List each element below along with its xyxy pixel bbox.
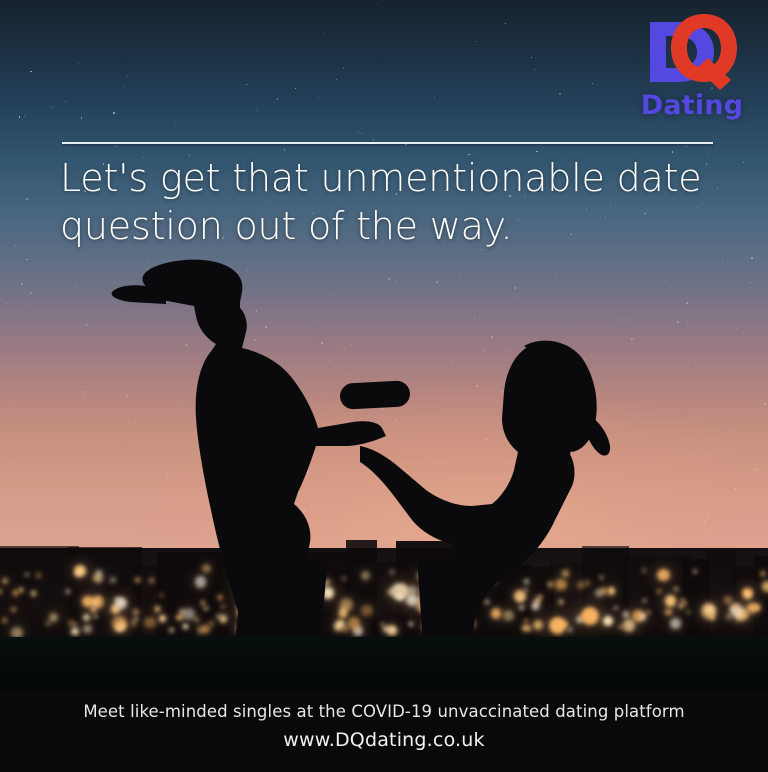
- star: [764, 403, 766, 405]
- dq-monogram-icon: [636, 12, 748, 90]
- advertisement-card: Dating Let's get that unmentionable date…: [0, 0, 768, 772]
- star: [756, 468, 758, 470]
- city-light: [747, 603, 757, 613]
- city-light: [46, 622, 50, 626]
- star: [692, 454, 693, 455]
- star: [90, 484, 91, 485]
- city-light: [76, 572, 79, 575]
- star: [373, 139, 374, 140]
- star: [672, 151, 673, 152]
- star: [21, 283, 23, 285]
- city-light: [693, 570, 697, 574]
- city-light: [745, 593, 751, 599]
- city-light: [96, 570, 102, 576]
- star: [743, 162, 744, 163]
- city-light: [724, 596, 732, 604]
- city-light: [670, 618, 681, 629]
- star: [86, 324, 87, 325]
- star: [531, 57, 532, 58]
- star: [674, 506, 675, 507]
- city-light: [683, 602, 687, 606]
- footer-website[interactable]: www.DQdating.co.uk: [0, 725, 768, 755]
- city-light: [66, 589, 71, 594]
- star: [113, 112, 114, 113]
- star: [81, 117, 82, 118]
- headline-divider: [62, 142, 713, 144]
- star: [734, 488, 735, 489]
- star: [26, 259, 27, 260]
- star: [284, 149, 285, 150]
- city-light: [761, 571, 766, 576]
- city-light: [83, 614, 90, 621]
- hero-photo: Dating Let's get that unmentionable date…: [0, 0, 768, 690]
- brand-wordmark: Dating: [636, 92, 748, 119]
- star: [19, 116, 20, 117]
- star: [686, 302, 688, 304]
- city-light: [25, 573, 28, 576]
- star: [736, 328, 737, 329]
- star: [704, 520, 706, 522]
- joined-hands: [339, 380, 410, 410]
- city-light: [665, 609, 671, 615]
- footer-tagline: Meet like-minded singles at the COVID-19…: [0, 699, 768, 725]
- city-light: [68, 620, 74, 626]
- rooftop-ledge: [0, 637, 768, 690]
- star: [701, 511, 702, 512]
- headline-text: Let's get that unmentionable date questi…: [60, 154, 730, 250]
- star: [336, 79, 337, 80]
- city-light: [762, 581, 768, 592]
- brand-logo[interactable]: Dating: [636, 12, 748, 127]
- city-light: [731, 603, 739, 611]
- city-light: [92, 599, 98, 605]
- star: [52, 107, 53, 108]
- city-light: [49, 613, 58, 622]
- city-light: [2, 618, 7, 623]
- star: [555, 274, 556, 275]
- city-light: [2, 578, 8, 584]
- star: [82, 391, 84, 393]
- city-light: [709, 614, 715, 620]
- city-building: [754, 556, 768, 638]
- city-light: [665, 595, 677, 607]
- star: [475, 41, 476, 42]
- star: [10, 463, 11, 464]
- footer-bar: Meet like-minded singles at the COVID-19…: [0, 690, 768, 772]
- city-light: [674, 587, 678, 591]
- star: [536, 151, 537, 152]
- star: [30, 71, 31, 72]
